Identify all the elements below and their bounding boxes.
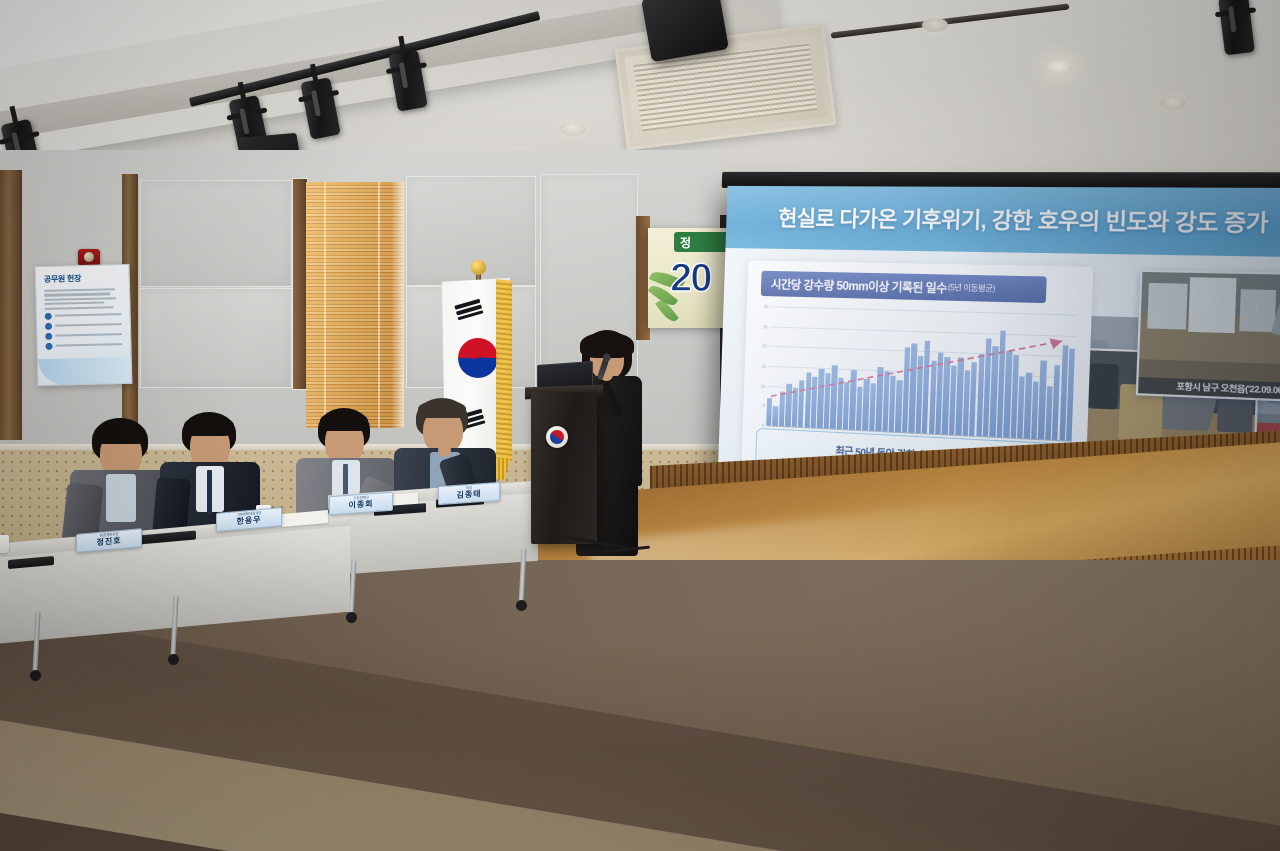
- bar-chart-plot: 051015202530: [766, 307, 1076, 441]
- flag-fringe: [496, 279, 512, 461]
- green-event-banner: 정 20: [648, 228, 734, 328]
- bullet-icon: [45, 312, 52, 319]
- nameplate-name: 한용우: [236, 516, 261, 527]
- table-caster: [516, 600, 527, 611]
- window-with-blinds: [306, 182, 404, 428]
- flag-finial: [471, 260, 486, 275]
- chart-header-box: 시간당 강수량 50mm이상 기록된 일수 (5년 이동평균): [761, 271, 1047, 303]
- recessed-downlight: [1160, 96, 1186, 110]
- speaking-podium: [531, 392, 597, 544]
- y-tick-label: 20: [749, 343, 767, 349]
- wall-wood-column: [0, 170, 22, 440]
- y-tick-label: 30: [751, 304, 769, 310]
- nameplate-name: 정진호: [96, 537, 121, 548]
- table-caster: [346, 612, 357, 623]
- ceiling-spotlight: [1218, 0, 1255, 55]
- nameplate-name: 김종태: [456, 490, 481, 501]
- bullet-icon: [45, 332, 52, 339]
- poster-title: 공무원 헌장: [44, 272, 121, 285]
- photo-pohang: 포항시 남구 오천읍('22.09.06.): [1136, 270, 1280, 404]
- chart-header-sub: (5년 이동평균): [948, 282, 995, 295]
- table-caster: [168, 654, 179, 665]
- paper-cup: [0, 535, 9, 553]
- nameplate-name: 이종희: [348, 500, 373, 511]
- banner-year-text: 20: [670, 256, 711, 301]
- recessed-downlight: [1046, 60, 1072, 74]
- conference-room-photo: 공무원 헌장 정 20: [0, 0, 1280, 851]
- fire-alarm-bell: [78, 249, 100, 265]
- public-servant-charter-poster: 공무원 헌장: [35, 264, 133, 386]
- poster-decoration: [38, 357, 132, 385]
- table-caster: [30, 670, 41, 681]
- y-tick-label: 5: [747, 403, 765, 409]
- trigram-icon: [454, 297, 484, 323]
- ceiling-pipe: [831, 3, 1070, 38]
- y-tick-label: 25: [750, 324, 768, 330]
- bullet-icon: [45, 342, 52, 349]
- bullet-icon: [45, 322, 52, 329]
- recessed-downlight: [560, 122, 586, 136]
- acoustic-panel: [140, 288, 292, 388]
- window-blinds: [306, 182, 404, 428]
- slide-title-band: 현실로 다가온 기후위기, 강한 호우의 빈도와 강도 증가: [725, 186, 1280, 258]
- podium-government-emblem: [546, 426, 568, 448]
- slide-title: 현실로 다가온 기후위기, 강한 호우의 빈도와 강도 증가: [778, 202, 1269, 239]
- trendline: [766, 307, 1076, 441]
- y-tick-label: 15: [749, 363, 767, 369]
- window-daylight-glow: [391, 182, 404, 428]
- y-tick-label: 10: [748, 383, 766, 389]
- acoustic-panel: [140, 180, 292, 287]
- recessed-downlight: [922, 18, 948, 32]
- chart-header-main: 시간당 강수량 50mm이상 기록된 일수: [771, 275, 947, 295]
